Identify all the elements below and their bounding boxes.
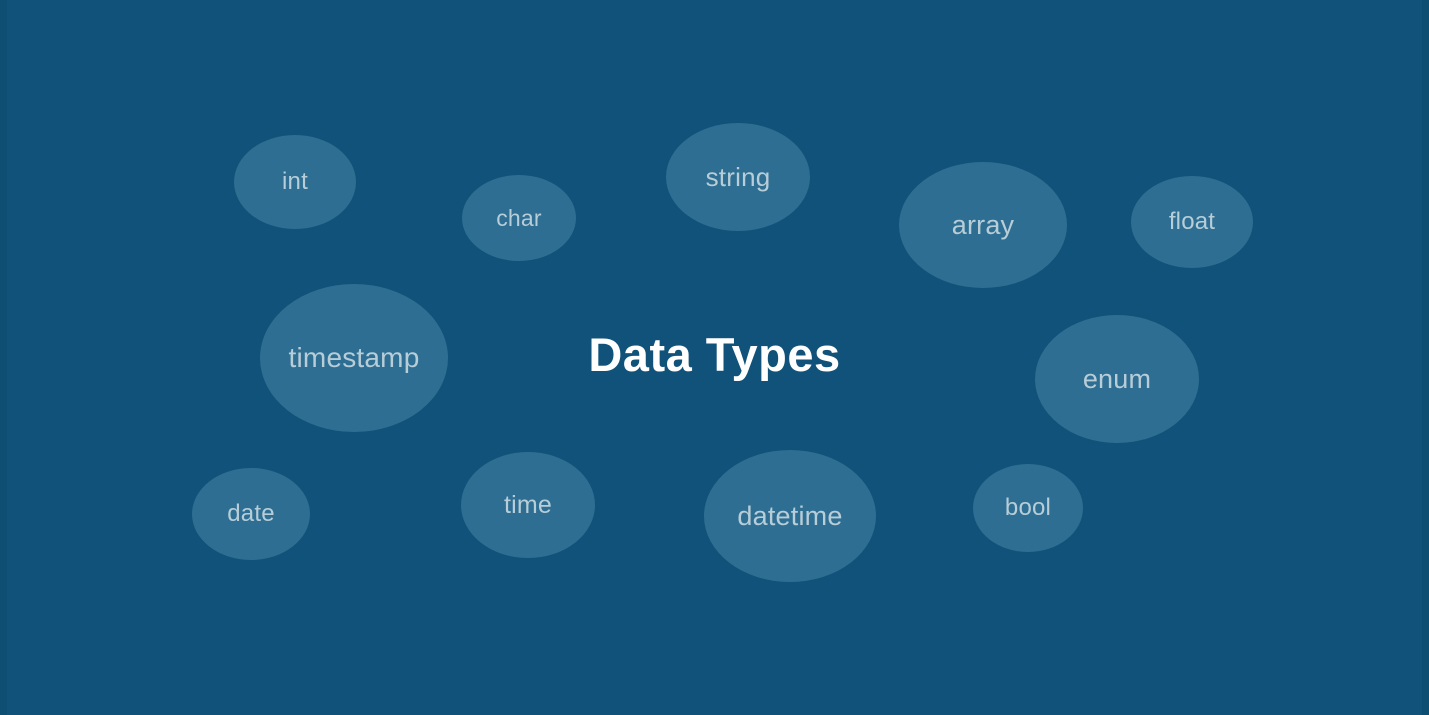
bubble-string[interactable]: string	[666, 123, 810, 231]
bubble-label-string: string	[706, 164, 771, 190]
bubble-label-date: date	[227, 502, 275, 526]
bubble-float[interactable]: float	[1131, 176, 1253, 268]
bubble-label-int: int	[282, 170, 308, 194]
bubble-int[interactable]: int	[234, 135, 356, 229]
bubble-datetime[interactable]: datetime	[704, 450, 876, 582]
data-types-bubble-chart: intcharstringarrayfloattimestampenumdate…	[0, 0, 1429, 715]
bubble-label-time: time	[504, 493, 552, 518]
bubble-bool[interactable]: bool	[973, 464, 1083, 552]
bubble-date[interactable]: date	[192, 468, 310, 560]
bubble-label-bool: bool	[1005, 496, 1051, 520]
bubble-label-float: float	[1169, 210, 1215, 234]
bubble-char[interactable]: char	[462, 175, 576, 261]
page-title: Data Types	[0, 325, 1429, 385]
bubble-label-array: array	[952, 212, 1015, 239]
bubble-label-datetime: datetime	[737, 503, 842, 530]
bubble-array[interactable]: array	[899, 162, 1067, 288]
bubble-label-char: char	[496, 207, 542, 230]
bubble-time[interactable]: time	[461, 452, 595, 558]
